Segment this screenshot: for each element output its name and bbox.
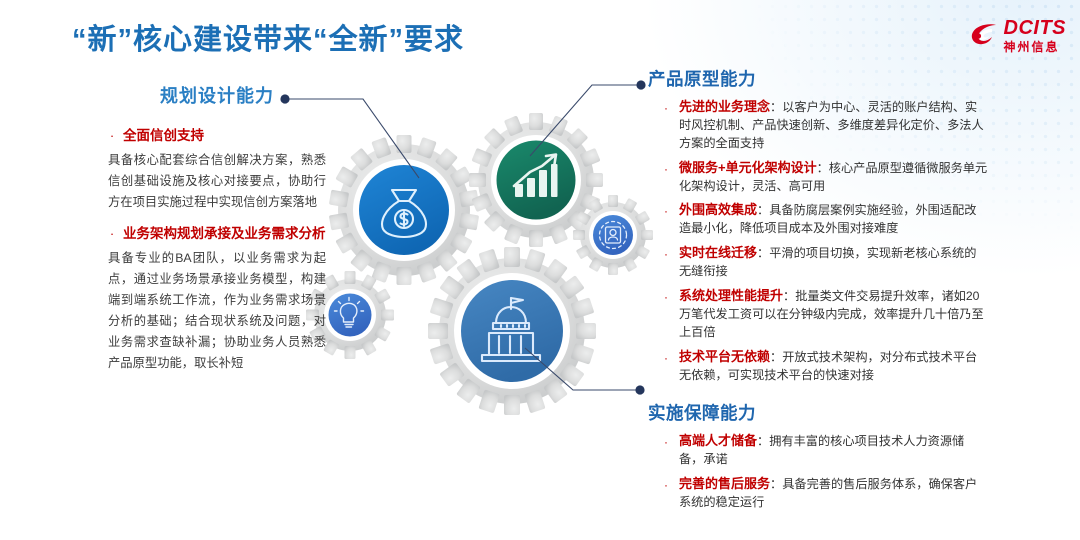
list-item-sep: ： bbox=[757, 434, 769, 448]
list-item-sep: ： bbox=[770, 100, 782, 114]
list-item-text: 高端人才储备：拥有丰富的核心项目技术人力资源储备，承诺 bbox=[679, 432, 988, 469]
list-item-sep: ： bbox=[770, 477, 782, 491]
left-item-title: 业务架构规划承接及业务需求分析 bbox=[123, 224, 326, 244]
list-item-text: 外围高效集成：具备防腐层案例实施经验，外围适配改造最小化，降低项目成本及外围对接… bbox=[679, 201, 988, 238]
logo-cn: 神州信息 bbox=[1004, 41, 1067, 53]
gear-money-bag bbox=[329, 135, 479, 285]
list-item-title: 微服务+单元化架构设计 bbox=[679, 160, 817, 175]
bullet-icon: · bbox=[662, 348, 670, 385]
left-item-title: 全面信创支持 bbox=[123, 126, 204, 146]
list-item-title: 高端人才储备 bbox=[679, 433, 757, 448]
left-item-body-0: 具备核心配套综合信创解决方案，熟悉信创基础设施及核心对接要点，协助行方在项目实施… bbox=[108, 150, 326, 213]
list-item: · 外围高效集成：具备防腐层案例实施经验，外围适配改造最小化，降低项目成本及外围… bbox=[648, 201, 988, 238]
left-item-head-0: · 全面信创支持 bbox=[108, 126, 326, 146]
bullet-icon: · bbox=[662, 244, 670, 281]
list-item-text: 实时在线迁移：平滑的项目切换，实现新老核心系统的无缝衔接 bbox=[679, 244, 988, 281]
list-item: · 高端人才储备：拥有丰富的核心项目技术人力资源储备，承诺 bbox=[648, 432, 988, 469]
logo-en: DCITS bbox=[1004, 18, 1067, 38]
right-panel: 产品原型能力 · 先进的业务理念：以客户为中心、灵活的账户结构、实时风控机制、产… bbox=[648, 66, 988, 518]
list-item: · 微服务+单元化架构设计：核心产品原型遵循微服务单元化架构设计，灵活、高可用 bbox=[648, 159, 988, 196]
list-item-title: 实时在线迁移 bbox=[679, 245, 757, 260]
left-panel: 规划设计能力 · 全面信创支持 具备核心配套综合信创解决方案，熟悉信创基础设施及… bbox=[108, 82, 326, 374]
list-item: · 系统处理性能提升：批量类文件交易提升效率，诸如20万笔代发工资可以在分钟级内… bbox=[648, 287, 988, 342]
list-item: · 实时在线迁移：平滑的项目切换，实现新老核心系统的无缝衔接 bbox=[648, 244, 988, 281]
list-item-title: 技术平台无依赖 bbox=[679, 349, 770, 364]
list-item: · 技术平台无依赖：开放式技术架构，对分布式技术平台无依赖，可实现技术平台的快速… bbox=[648, 348, 988, 385]
list-item-title: 先进的业务理念 bbox=[679, 99, 770, 114]
list-item-sep: ： bbox=[757, 246, 769, 260]
logo-text: DCITS 神州信息 bbox=[1004, 18, 1067, 53]
section-heading-implementation: 实施保障能力 bbox=[648, 400, 988, 425]
brand-logo: DCITS 神州信息 bbox=[969, 14, 1067, 56]
bullet-icon: · bbox=[662, 475, 670, 512]
bullet-icon: · bbox=[108, 126, 116, 146]
list-item-text: 微服务+单元化架构设计：核心产品原型遵循微服务单元化架构设计，灵活、高可用 bbox=[679, 159, 988, 196]
list-item-text: 先进的业务理念：以客户为中心、灵活的账户结构、实时风控机制、产品快速创新、多维度… bbox=[679, 98, 988, 153]
list-item-sep: ： bbox=[757, 203, 769, 217]
bullet-icon: · bbox=[662, 432, 670, 469]
list-item-title: 外围高效集成 bbox=[679, 202, 757, 217]
list-item-title: 完善的售后服务 bbox=[679, 476, 770, 491]
gear-bank bbox=[428, 247, 596, 415]
section-heading-prototype: 产品原型能力 bbox=[648, 66, 988, 91]
list-item-sep: ： bbox=[817, 161, 829, 175]
list-item-title: 系统处理性能提升 bbox=[679, 288, 783, 303]
bullet-icon: · bbox=[662, 201, 670, 238]
bullet-icon: · bbox=[662, 159, 670, 196]
page-title: “新”核心建设带来“全新”要求 bbox=[72, 16, 464, 58]
list-item-text: 技术平台无依赖：开放式技术架构，对分布式技术平台无依赖，可实现技术平台的快速对接 bbox=[679, 348, 988, 385]
bullet-icon: · bbox=[662, 287, 670, 342]
bullet-icon: · bbox=[662, 98, 670, 153]
connector-dot-prototype bbox=[636, 80, 645, 89]
slide-canvas: “新”核心建设带来“全新”要求 DCITS 神州信息 bbox=[0, 0, 1080, 540]
left-panel-heading: 规划设计能力 bbox=[108, 82, 326, 108]
list-item-text: 系统处理性能提升：批量类文件交易提升效率，诸如20万笔代发工资可以在分钟级内完成… bbox=[679, 287, 988, 342]
swoosh-icon bbox=[969, 20, 999, 50]
left-item-body-1: 具备专业的BA团队，以业务需求为起点，通过业务场景承接业务模型，构建端到端系统工… bbox=[108, 248, 326, 375]
list-item: · 先进的业务理念：以客户为中心、灵活的账户结构、实时风控机制、产品快速创新、多… bbox=[648, 98, 988, 153]
list-item-sep: ： bbox=[770, 350, 782, 364]
list-item: · 完善的售后服务：具备完善的售后服务体系，确保客户系统的稳定运行 bbox=[648, 475, 988, 512]
left-item-head-1: · 业务架构规划承接及业务需求分析 bbox=[108, 224, 326, 244]
bullet-icon: · bbox=[108, 224, 116, 244]
list-item-sep: ： bbox=[783, 289, 795, 303]
list-item-text: 完善的售后服务：具备完善的售后服务体系，确保客户系统的稳定运行 bbox=[679, 475, 988, 512]
gear-cluster-illustration bbox=[310, 92, 660, 437]
